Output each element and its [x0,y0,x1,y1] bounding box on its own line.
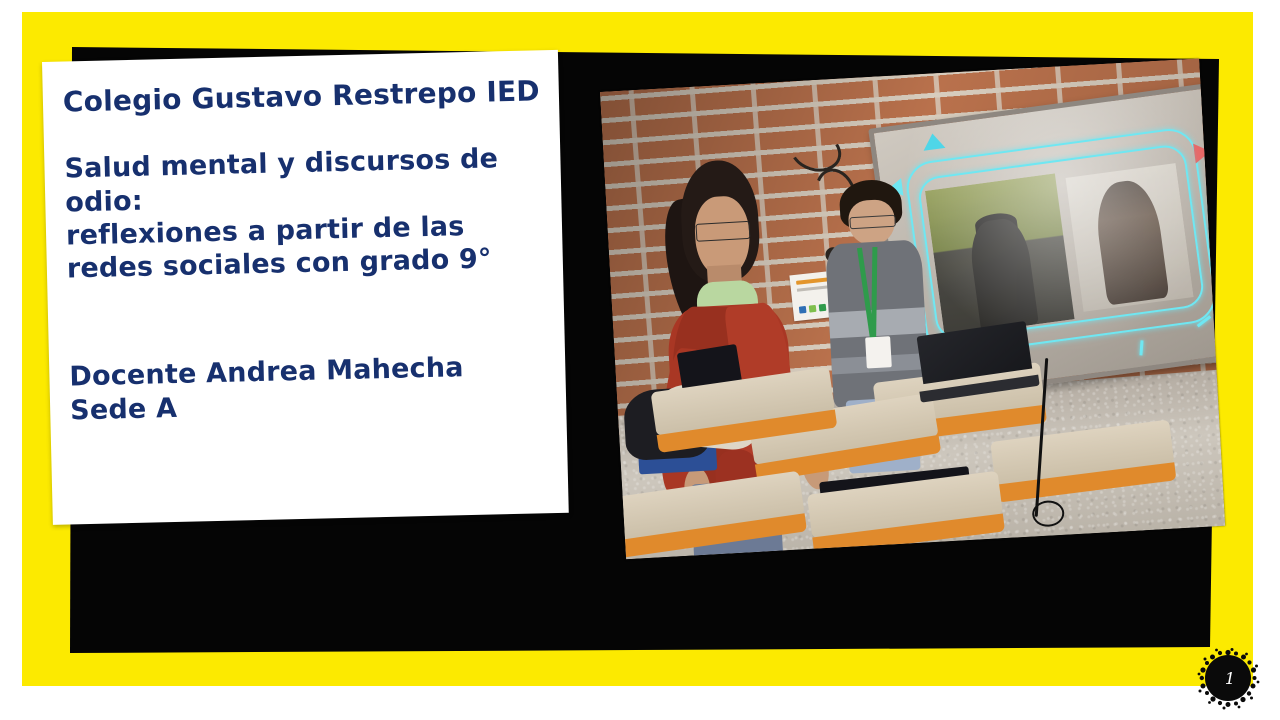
presenter-info: Docente Andrea Mahecha Sede A [69,349,550,428]
school-name: Colegio Gustavo Restrepo IED [63,74,544,118]
poster-logo-icon [799,306,807,314]
title-card: Colegio Gustavo Restrepo IED Salud menta… [42,50,569,525]
page-number-badge: 1 [1196,646,1260,710]
presentation-slide: Colegio Gustavo Restrepo IED Salud menta… [0,0,1280,720]
classroom-photo [600,59,1225,560]
glasses-icon [696,221,751,242]
id-badge [865,336,892,368]
poster-logo-icon [809,305,817,313]
sweater-stripe [829,307,926,338]
title-card-text: Colegio Gustavo Restrepo IED Salud menta… [63,74,551,428]
presentation-topic: Salud mental y discursos de odio: reflex… [64,141,547,286]
poster-logo-icon [819,304,827,312]
photo-content [600,59,1225,560]
page-number-text: 1 [1196,646,1262,710]
